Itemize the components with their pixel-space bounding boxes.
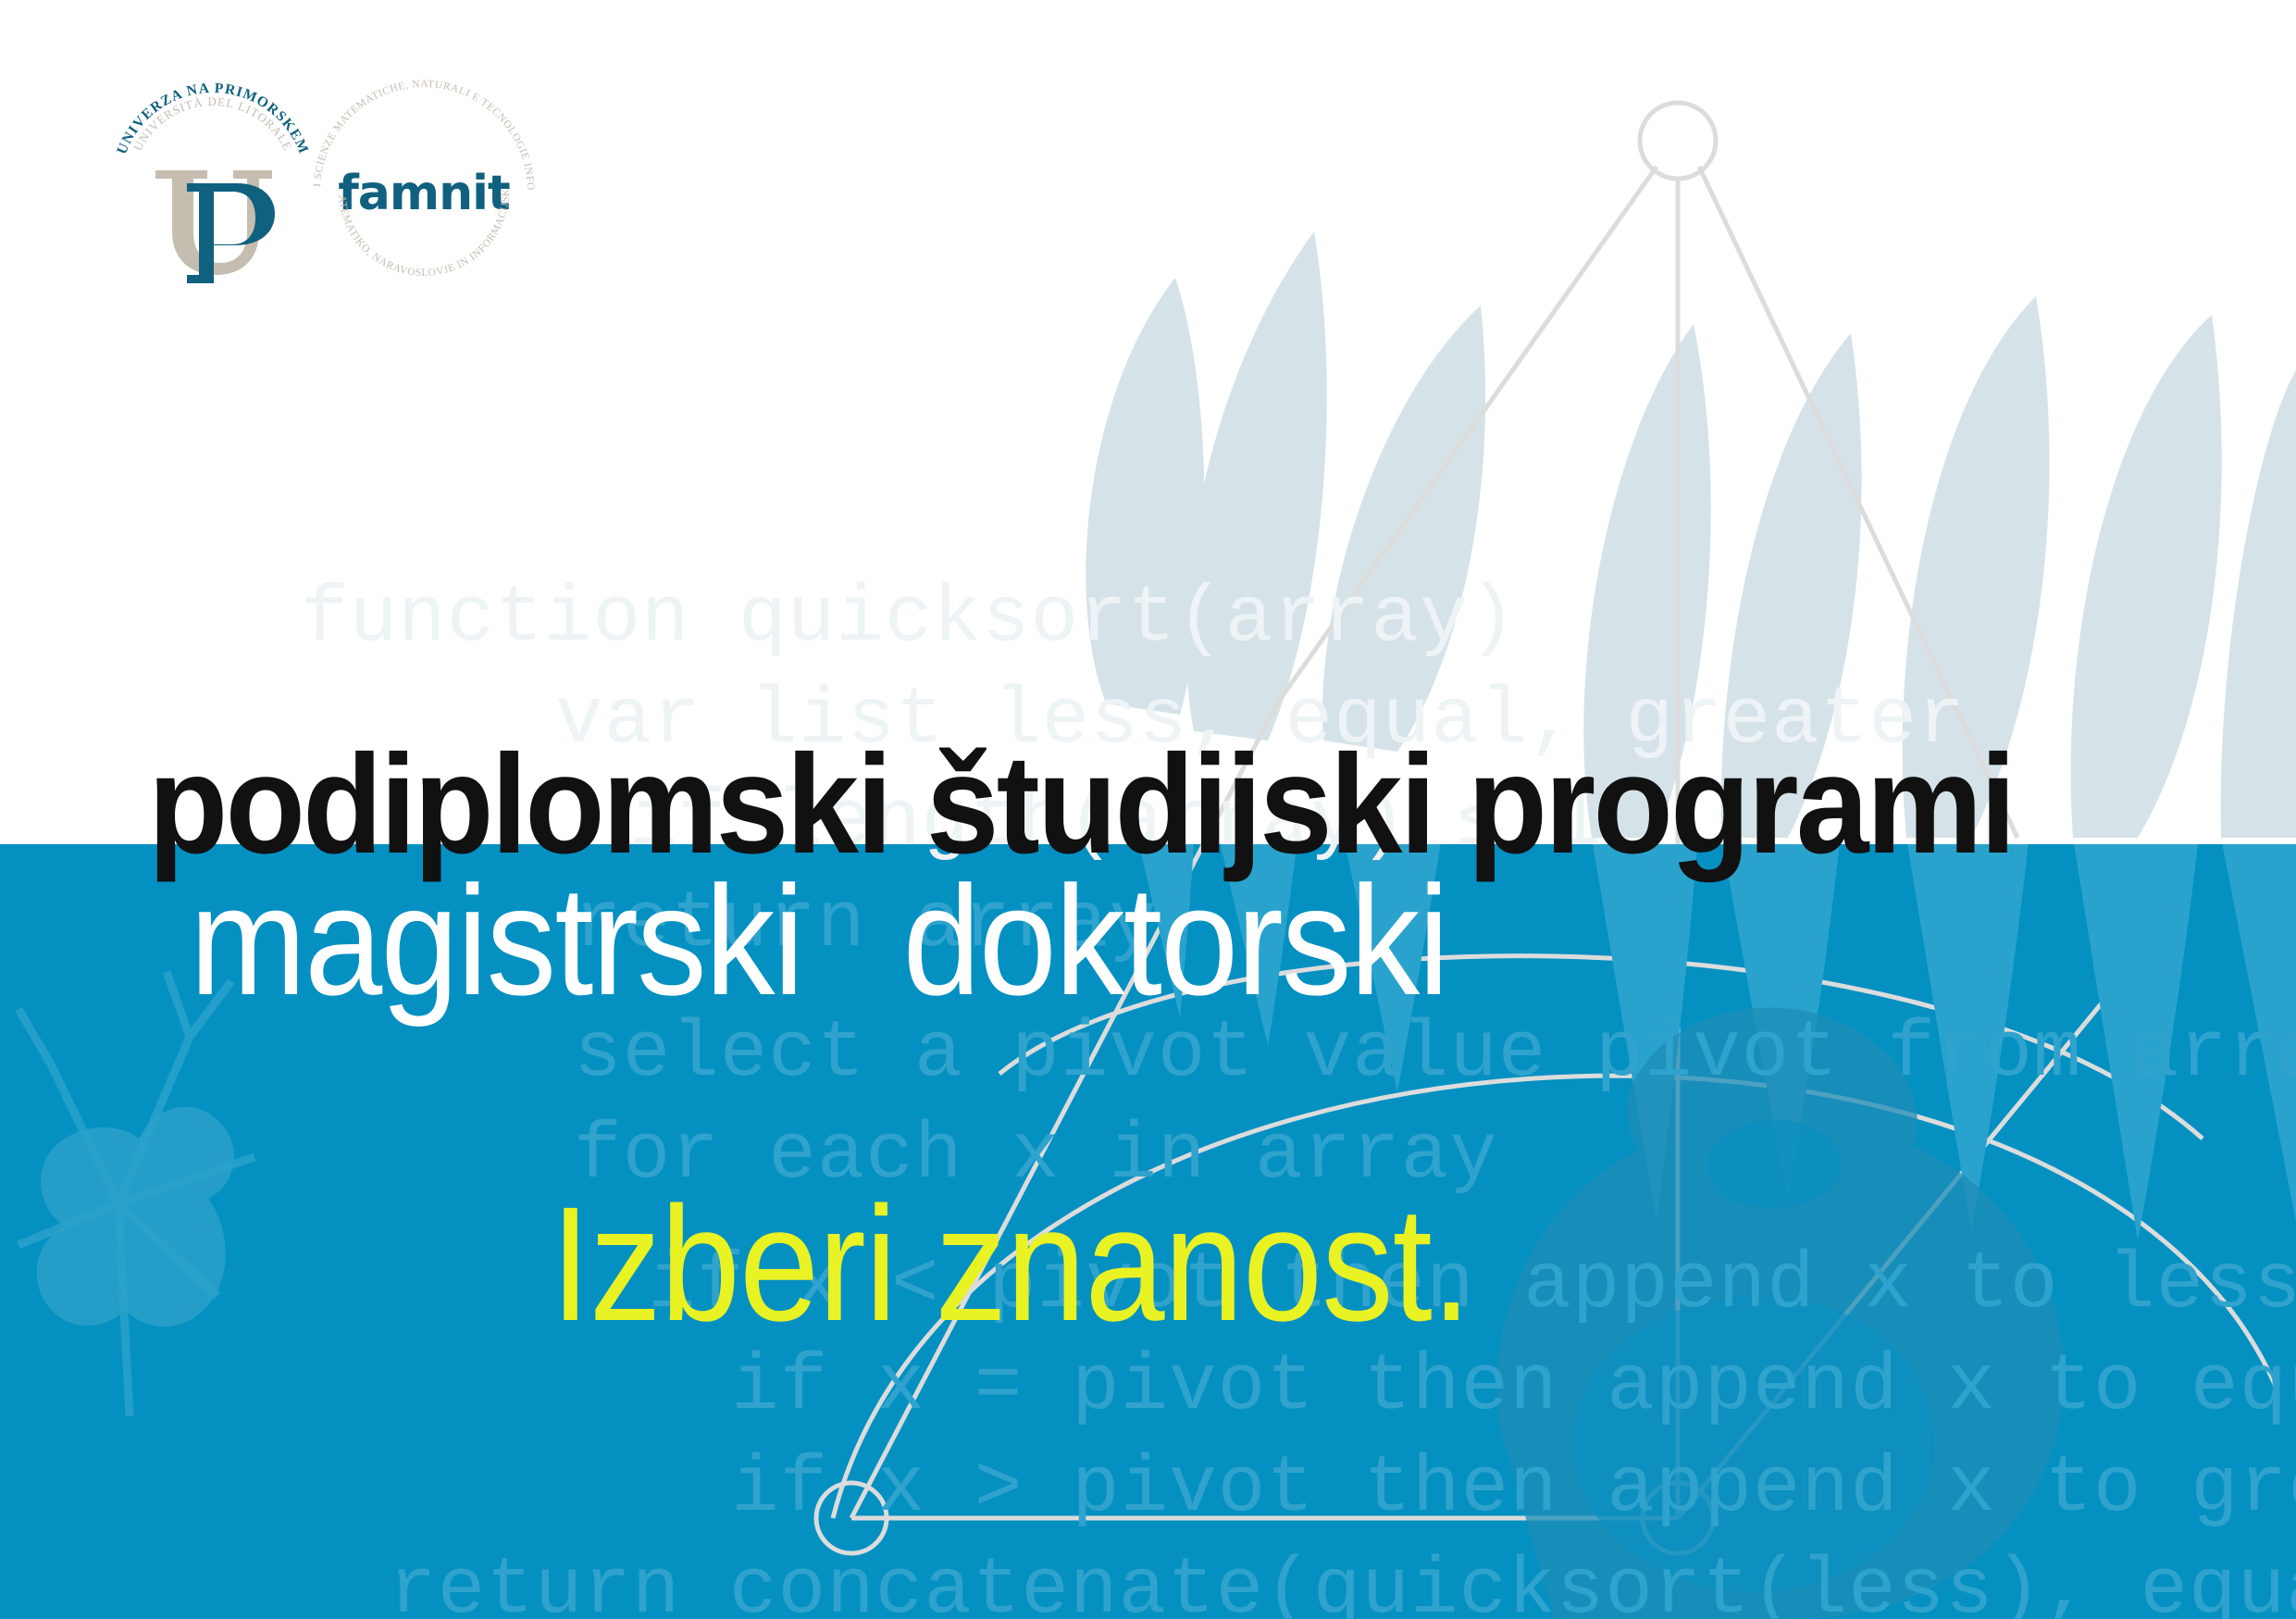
famnit-faculty-logo[interactable]: famnit FACOLTÀ DI SCIENZE MATEMATICHE, N… — [296, 74, 574, 296]
university-of-primorska-logo[interactable]: UNIVERZA NA PRIMORSKEM UNIVERSITÀ DEL LI… — [102, 74, 324, 296]
tagline-izberi-znanost: Izberi znanost. — [551, 1171, 1471, 1358]
code-line: if x > pivot then append x to greater — [731, 1449, 2296, 1528]
headline-word-doktorski: doktorski — [902, 853, 1447, 1027]
logo-lockup: UNIVERZA NA PRIMORSKEM UNIVERSITÀ DEL LI… — [102, 74, 509, 296]
code-line: if x = pivot then append x to equal — [731, 1347, 2296, 1426]
code-line: return concatenate(quicksort(less), equa… — [389, 1551, 2296, 1619]
poster-canvas: function quicksort(array) var list less,… — [0, 0, 2296, 1619]
headline-word-programi: programi — [1468, 726, 2014, 883]
code-line: function quicksort(array) — [301, 579, 1517, 658]
famnit-wordmark: famnit — [338, 166, 510, 221]
headline-degree-types: magistrskidoktorski — [190, 852, 1447, 1030]
headline-word-magistrski: magistrski — [190, 853, 802, 1027]
